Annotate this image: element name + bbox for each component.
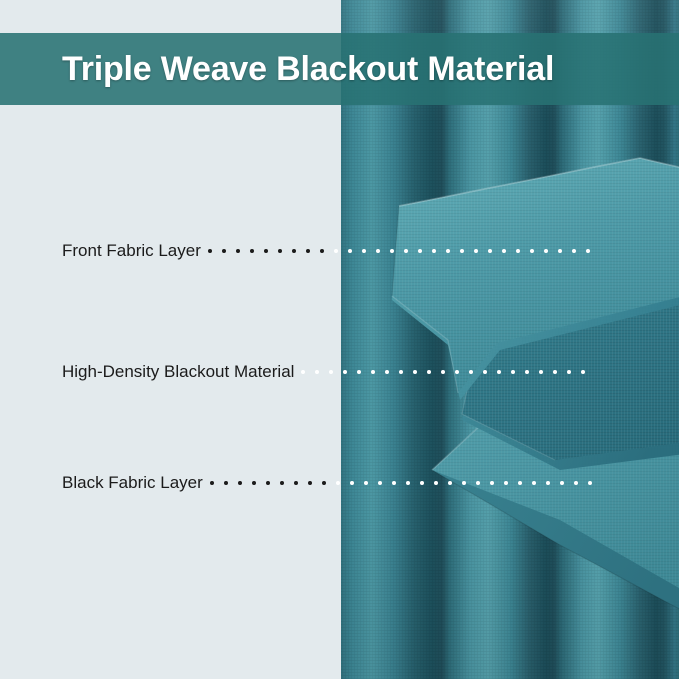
leader-dot [294,481,298,485]
leader-dot [511,370,515,374]
leader-dot [390,249,394,253]
leader-dot [280,481,284,485]
leader-dot [406,481,410,485]
leader-dot [357,370,361,374]
leader-dot [399,370,403,374]
leader-dot [315,370,319,374]
leader-dot [210,481,214,485]
leader-dot [385,370,389,374]
leader-dot [460,249,464,253]
leader-dot [208,249,212,253]
leader-dot [364,481,368,485]
leader-dot [567,370,571,374]
leader-dot [392,481,396,485]
leader-dot [532,481,536,485]
leader-dot [441,370,445,374]
leader-dot [432,249,436,253]
leader-dot [371,370,375,374]
leader-dot [497,370,501,374]
leader-dot [252,481,256,485]
leader-dot [336,481,340,485]
leader-dot [469,370,473,374]
leader-dot [320,249,324,253]
leader-dot [222,249,226,253]
leader-dot [476,481,480,485]
leader-dot [343,370,347,374]
leader-dots [301,361,631,383]
leader-dots [210,472,655,494]
callout-label: High-Density Blackout Material [62,361,294,383]
leader-dot [266,481,270,485]
leader-dot [378,481,382,485]
leader-dot [278,249,282,253]
leader-dot [558,249,562,253]
leader-dot [474,249,478,253]
leader-dot [427,370,431,374]
callout-label: Black Fabric Layer [62,472,203,494]
leader-dot [334,249,338,253]
callout-black-fabric-layer: Black Fabric Layer [62,472,655,494]
leader-dot [376,249,380,253]
callout-high-density-blackout-material: High-Density Blackout Material [62,361,631,383]
leader-dot [504,481,508,485]
leader-dot [420,481,424,485]
leader-dot [306,249,310,253]
leader-dot [516,249,520,253]
leader-dot [462,481,466,485]
title-banner: Triple Weave Blackout Material [0,33,679,105]
leader-dot [301,370,305,374]
leader-dot [224,481,228,485]
leader-dot [560,481,564,485]
leader-dot [404,249,408,253]
leader-dot [250,249,254,253]
leader-dot [586,249,590,253]
leader-dots [208,240,653,262]
leader-dot [308,481,312,485]
leader-dot [292,249,296,253]
leader-dot [238,481,242,485]
leader-dot [546,481,550,485]
leader-dot [574,481,578,485]
leader-dot [446,249,450,253]
leader-dot [448,481,452,485]
leader-dot [539,370,543,374]
leader-dot [544,249,548,253]
leader-dot [502,249,506,253]
infographic-canvas: Triple Weave Blackout Material Front Fab… [0,0,679,679]
leader-dot [350,481,354,485]
callout-label: Front Fabric Layer [62,240,201,262]
leader-dot [530,249,534,253]
leader-dot [348,249,352,253]
leader-dot [236,249,240,253]
leader-dot [572,249,576,253]
leader-dot [418,249,422,253]
leader-dot [483,370,487,374]
leader-dot [413,370,417,374]
callout-front-fabric-layer: Front Fabric Layer [62,240,653,262]
leader-dot [518,481,522,485]
leader-dot [553,370,557,374]
leader-dot [362,249,366,253]
leader-dot [490,481,494,485]
leader-dot [322,481,326,485]
page-title: Triple Weave Blackout Material [62,50,554,89]
leader-dot [581,370,585,374]
leader-dot [588,481,592,485]
leader-dot [525,370,529,374]
leader-dot [264,249,268,253]
leader-dot [455,370,459,374]
leader-dot [329,370,333,374]
leader-dot [434,481,438,485]
leader-dot [488,249,492,253]
